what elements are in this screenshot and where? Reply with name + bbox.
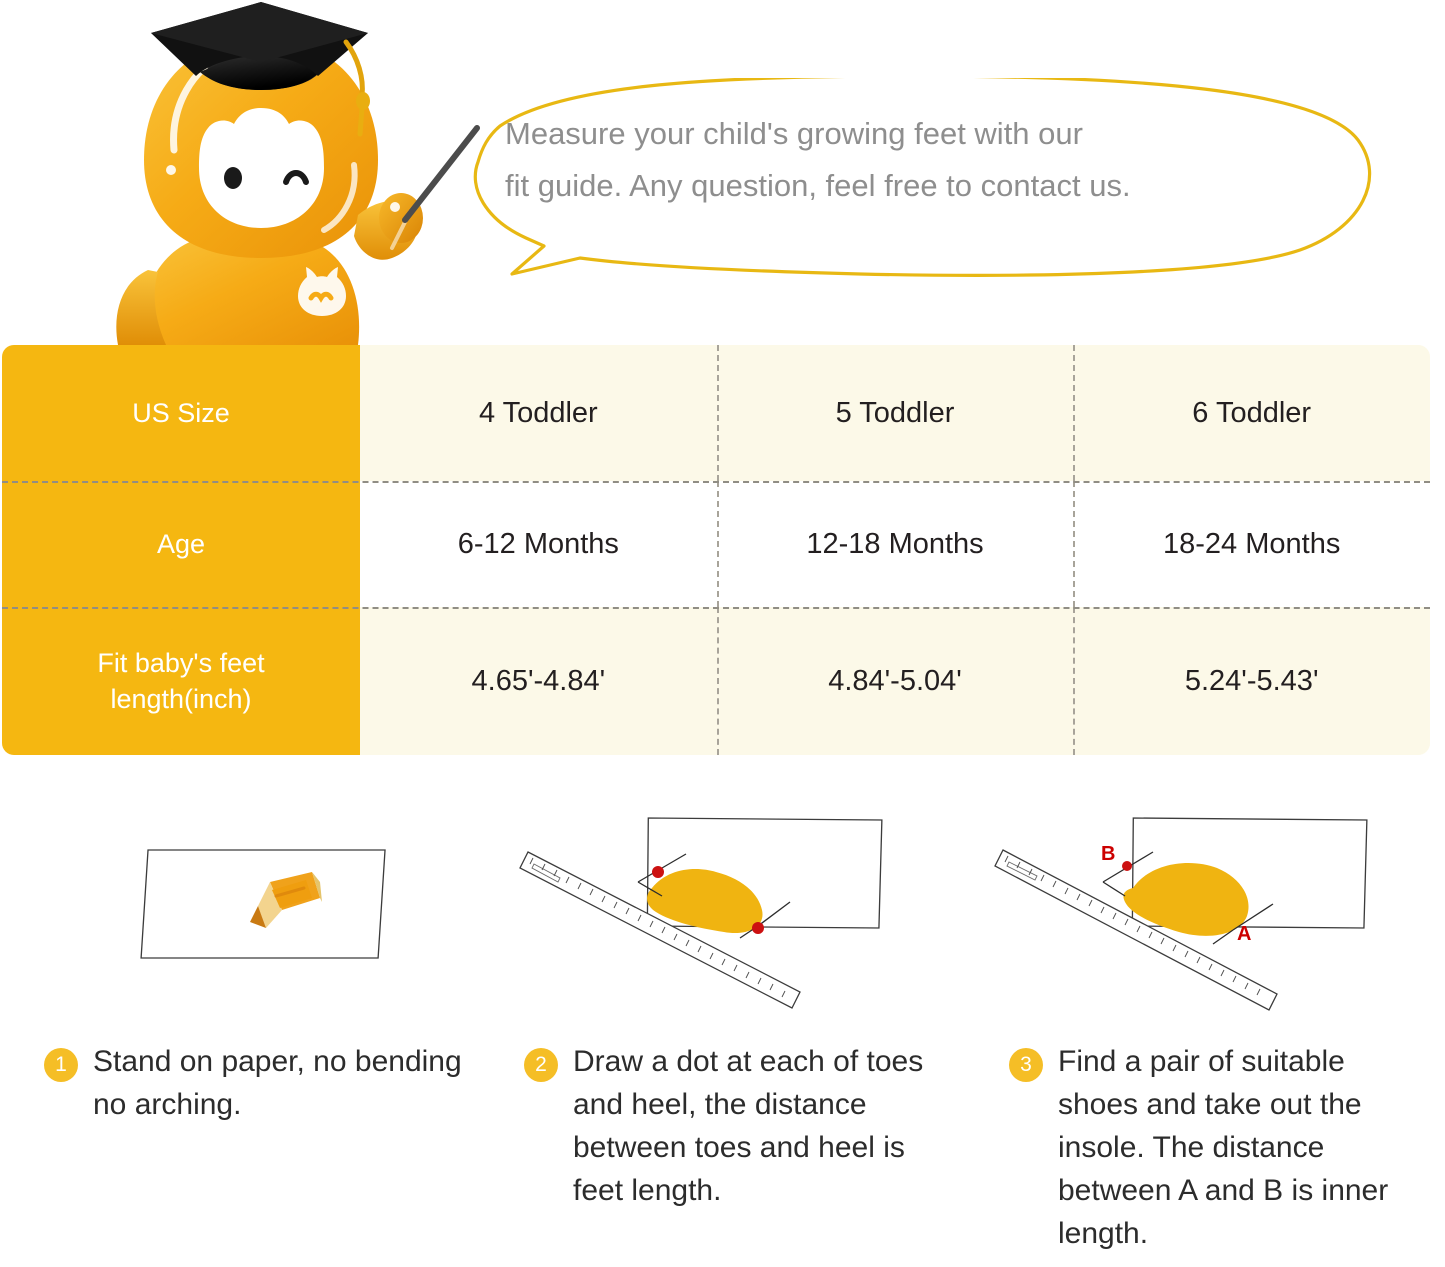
- size-chart-table: US Size 4 Toddler 5 Toddler 6 Toddler Ag…: [2, 345, 1430, 755]
- speech-line-2: fit guide. Any question, feel free to co…: [505, 160, 1295, 212]
- step-3-figure-ruler-insole-ab: B A: [985, 810, 1435, 1025]
- cell-feet-length-col2: 4.84'-5.04': [717, 607, 1074, 755]
- graduate-mascot: [96, 0, 426, 345]
- step-3-text: Find a pair of suitable shoes and take o…: [1058, 1040, 1429, 1255]
- marker-b-label: B: [1101, 843, 1115, 865]
- cell-age-col1: 6-12 Months: [360, 481, 717, 607]
- heel-dot: [752, 922, 764, 934]
- step-1: 1 Stand on paper, no bending no arching.: [20, 800, 490, 1267]
- step-2: 2 Draw a dot at each of toes and heel, t…: [500, 800, 970, 1267]
- header-illustration-area: Measure your child's growing feet with o…: [0, 0, 1445, 345]
- row-header-age: Age: [2, 481, 360, 607]
- step-3-badge: 3: [1009, 1048, 1043, 1082]
- marker-a-label: A: [1237, 923, 1251, 945]
- cell-feet-length-col1: 4.65'-4.84': [360, 607, 717, 755]
- step-2-caption: 2 Draw a dot at each of toes and heel, t…: [524, 1040, 944, 1212]
- step-2-figure-ruler-foot-dots: [500, 810, 950, 1025]
- step-1-text: Stand on paper, no bending no arching.: [93, 1040, 464, 1126]
- row-header-feet-length-line1: Fit baby's feet: [97, 648, 264, 678]
- cell-age-col2: 12-18 Months: [717, 481, 1074, 607]
- step-1-figure-paper-with-pencil: [20, 810, 470, 1025]
- row-header-feet-length: Fit baby's feet length(inch): [2, 607, 360, 755]
- cell-us-size-col1: 4 Toddler: [360, 345, 717, 481]
- toe-dot: [652, 866, 664, 878]
- step-1-badge: 1: [44, 1048, 78, 1082]
- step-2-text: Draw a dot at each of toes and heel, the…: [573, 1040, 944, 1212]
- table-row-divider: [2, 481, 1430, 483]
- point-b-dot: [1122, 861, 1132, 871]
- step-3-caption: 3 Find a pair of suitable shoes and take…: [1009, 1040, 1429, 1255]
- cell-us-size-col2: 5 Toddler: [717, 345, 1074, 481]
- step-2-badge: 2: [524, 1048, 558, 1082]
- table-row-divider: [2, 607, 1430, 609]
- cell-us-size-col3: 6 Toddler: [1073, 345, 1430, 481]
- table-row: Fit baby's feet length(inch) 4.65'-4.84'…: [2, 607, 1430, 755]
- mascot-face: [199, 108, 324, 228]
- cell-age-col3: 18-24 Months: [1073, 481, 1430, 607]
- row-header-feet-length-line2: length(inch): [110, 684, 251, 714]
- step-3: B A 3 Find a pair of suitable shoes and …: [985, 800, 1445, 1267]
- speech-bubble-text: Measure your child's growing feet with o…: [505, 108, 1295, 212]
- measurement-steps: 1 Stand on paper, no bending no arching.: [0, 800, 1445, 1267]
- speech-line-1: Measure your child's growing feet with o…: [505, 108, 1295, 160]
- table-row: US Size 4 Toddler 5 Toddler 6 Toddler: [2, 345, 1430, 481]
- table-row: Age 6-12 Months 12-18 Months 18-24 Month…: [2, 481, 1430, 607]
- row-header-us-size: US Size: [2, 345, 360, 481]
- step-1-caption: 1 Stand on paper, no bending no arching.: [44, 1040, 464, 1126]
- cell-feet-length-col3: 5.24'-5.43': [1073, 607, 1430, 755]
